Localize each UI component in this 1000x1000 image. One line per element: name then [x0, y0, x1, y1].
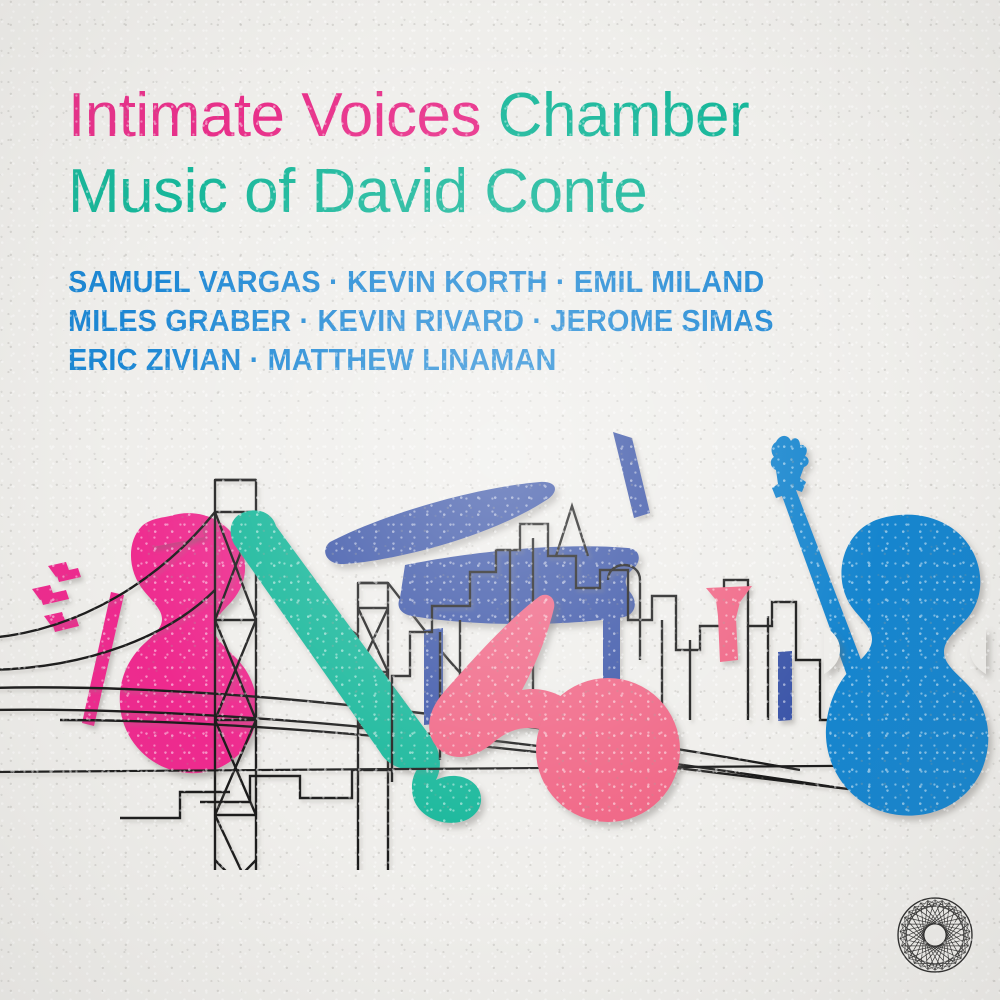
performer-list: SAMUEL VARGAS · KEVIN KORTH · EMIL MILAN…: [68, 262, 948, 379]
title-block: Intimate Voices Chamber Music of David C…: [68, 78, 948, 230]
salmon-circle: [536, 678, 680, 822]
pentatone-logo: [892, 892, 978, 978]
salmon-mute-peg: [706, 586, 752, 662]
title-main: Intimate Voices: [68, 81, 481, 150]
title-line-2: Music of David Conte: [68, 154, 948, 230]
navy-piano-wing: [399, 546, 639, 624]
cover-artwork: [0, 420, 1000, 870]
performer-line-3: ERIC ZIVIAN · MATTHEW LINAMAN: [68, 340, 886, 379]
performer-line-1: SAMUEL VARGAS · KEVIN KORTH · EMIL MILAN…: [68, 262, 886, 301]
magenta-tuning-pegs: [32, 562, 81, 632]
title-line-1: Intimate Voices Chamber: [68, 78, 948, 154]
title-sub-part-1: Chamber: [498, 81, 750, 150]
album-cover: Intimate Voices Chamber Music of David C…: [0, 0, 1000, 1000]
performer-line-2: MILES GRABER · KEVIN RIVARD · JEROME SIM…: [68, 301, 886, 340]
magenta-cello-body: [120, 513, 257, 773]
